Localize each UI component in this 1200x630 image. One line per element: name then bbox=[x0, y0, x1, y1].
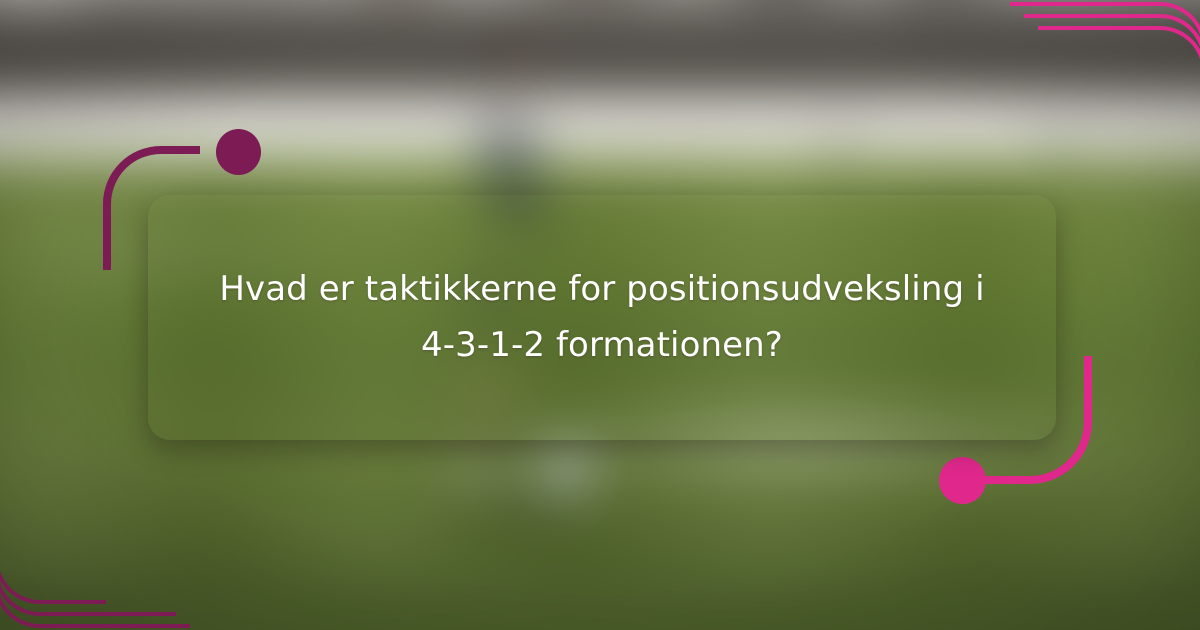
top-left-dot-icon bbox=[216, 129, 261, 175]
bottom-right-dot-icon bbox=[939, 457, 986, 504]
headline-card: Hvad er taktikkerne for positionsudveksl… bbox=[148, 195, 1056, 440]
page-title: Hvad er taktikkerne for positionsudveksl… bbox=[202, 262, 1002, 372]
social-card-canvas: Hvad er taktikkerne for positionsudveksl… bbox=[0, 0, 1200, 630]
